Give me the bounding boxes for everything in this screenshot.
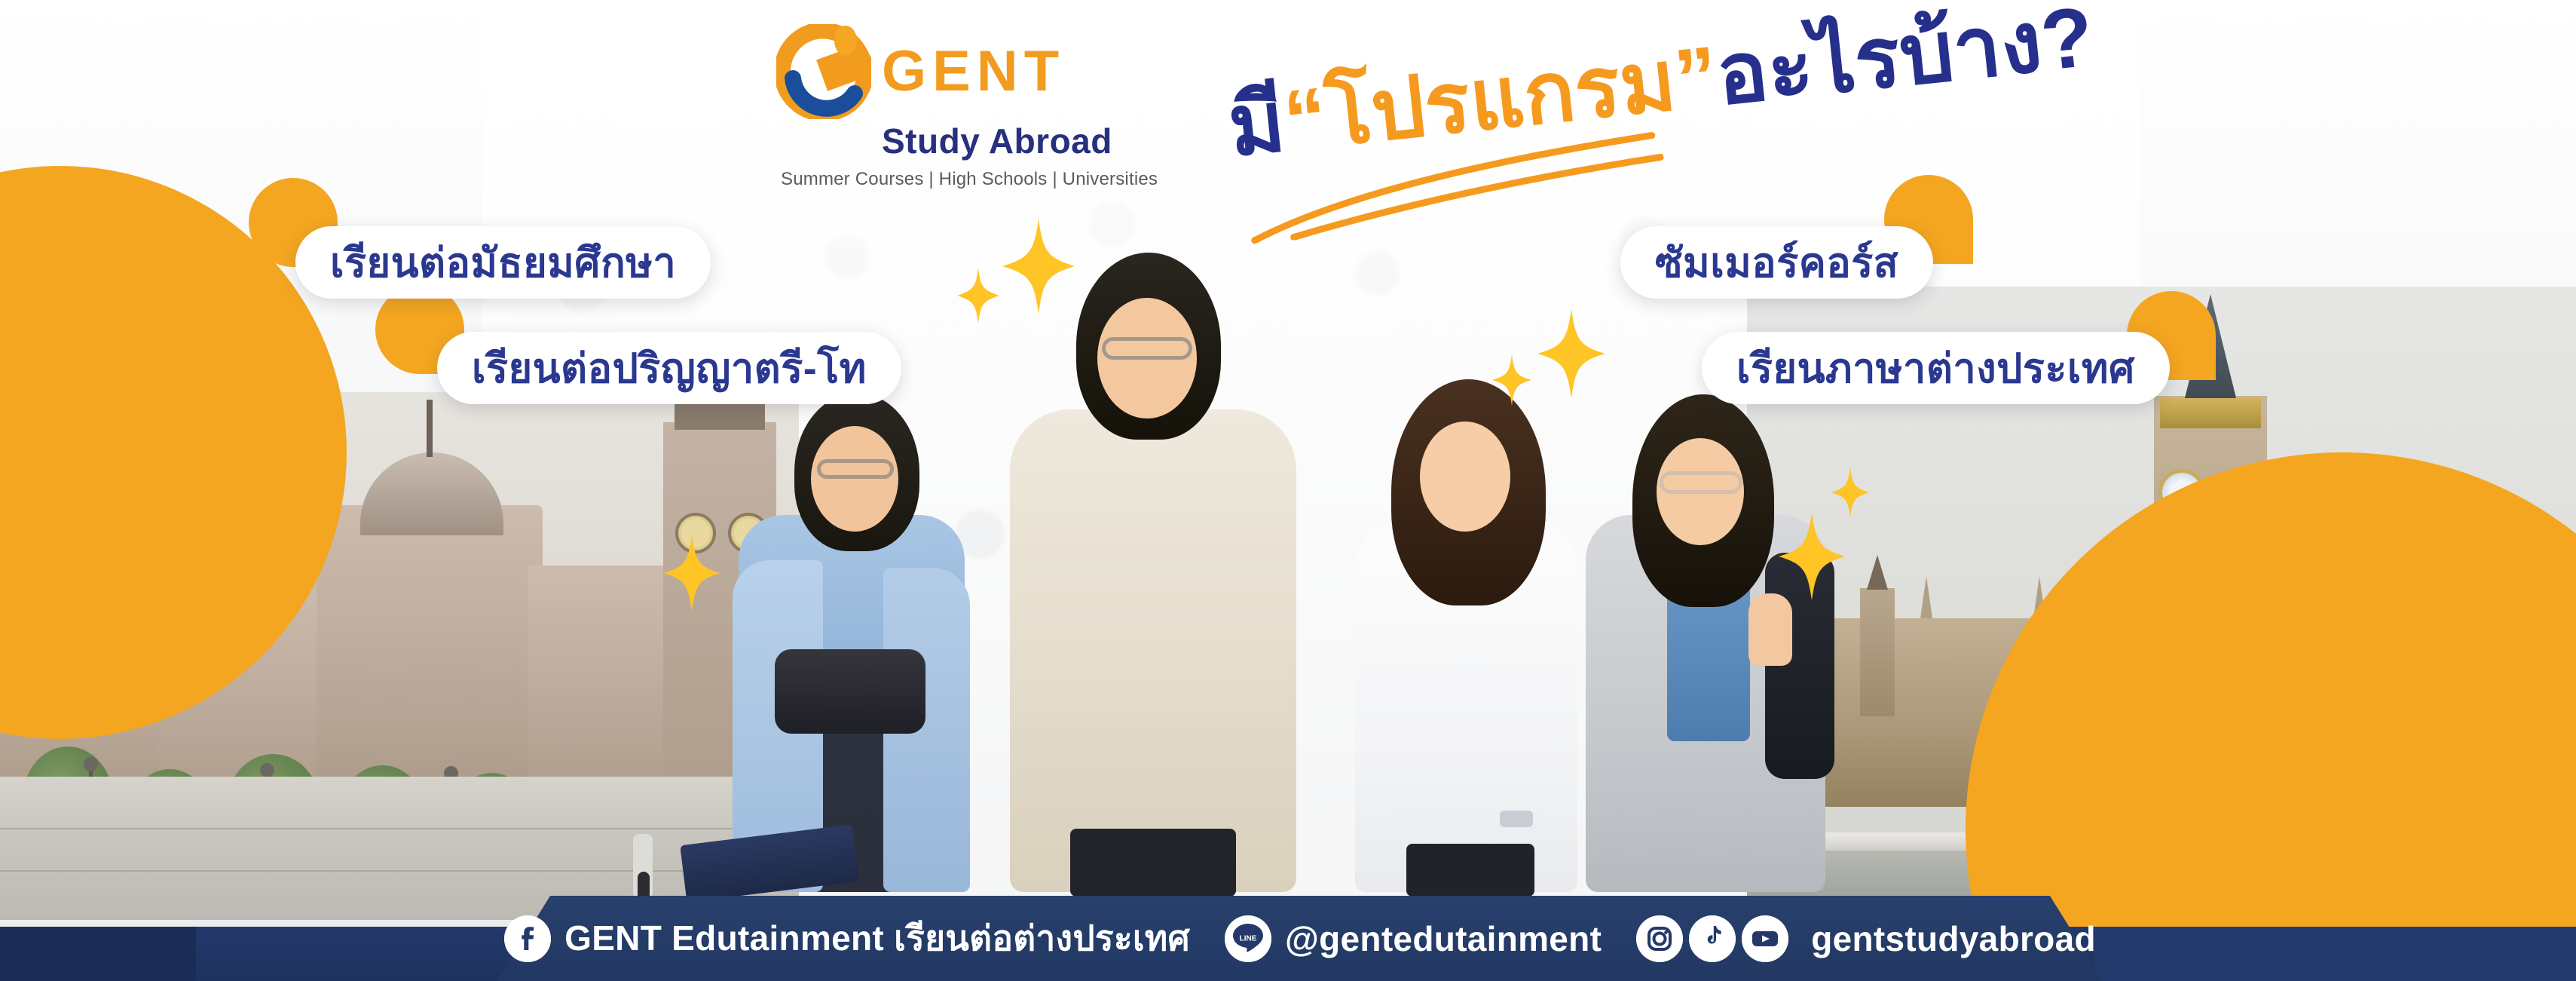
student-3-watch [1500,811,1533,827]
bottom-navy-strip-left [0,927,196,981]
sparkle-icon-6 [1831,468,1869,517]
bottom-navy-strip-right [2094,927,2576,981]
student-1-face [811,426,898,532]
logo-row: GENT [776,24,1228,119]
sparkle-icon-1 [1002,219,1075,314]
svg-text:LINE: LINE [1240,934,1257,943]
student-3 [1342,319,1590,892]
pill-high-school-label: เรียนต่อมัธยมศึกษา [330,230,676,295]
student-4-glasses [1660,471,1742,494]
left-plaza-line-2 [0,870,799,872]
student-2-glasses [1102,337,1192,360]
social-handles-icons: gentstudyabroad [1636,915,2096,962]
logo-word: GENT [882,44,1065,99]
social-bar: GENT Edutainment เรียนต่อต่างประเทศ LINE… [497,896,2103,981]
student-2-pants [1070,829,1236,897]
instagram-icon[interactable] [1636,915,1683,962]
facebook-icon[interactable] [504,915,551,962]
student-2 [995,228,1311,892]
pill-summer-course-label: ซัมเมอร์คอร์ส [1655,230,1898,295]
youtube-icon[interactable] [1742,915,1788,962]
student-4-peace-hand [1748,593,1792,666]
sparkle-icon-7 [663,535,720,611]
gent-g-icon [776,24,871,119]
pill-language-course-label: เรียนภาษาต่างประเทศ [1736,336,2135,400]
student-2-sweater [1010,409,1296,892]
big-ben-gold-band [2160,398,2261,428]
pill-bachelor-master[interactable]: เรียนต่อปริญญาตรี-โท [437,332,901,404]
student-1-bag [775,649,925,734]
handles-label: gentstudyabroad [1811,918,2096,959]
left-plaza-line-1 [0,828,799,829]
headline-part-3: อะไรบ้าง? [1712,0,2097,122]
social-facebook[interactable]: GENT Edutainment เรียนต่อต่างประเทศ [504,911,1190,966]
sparkle-icon-2 [957,268,999,323]
facebook-label: GENT Edutainment เรียนต่อต่างประเทศ [564,911,1190,966]
logo-wordmark: GENT [882,44,1065,99]
line-label: @gentedutainment [1285,918,1602,959]
brand-logo: GENT Study Abroad Summer Courses | High … [776,24,1228,190]
tiktok-icon[interactable] [1689,915,1736,962]
line-icon[interactable]: LINE [1225,915,1271,962]
right-turret [1860,588,1895,716]
headline: มี“โปรแกรม”อะไรบ้าง? [1228,15,2020,189]
logo-subtitle: Study Abroad [882,121,1228,161]
social-line[interactable]: LINE @gentedutainment [1225,915,1602,962]
sparkle-icon-3 [1537,309,1605,398]
pill-language-course[interactable]: เรียนภาษาต่างประเทศ [1702,332,2170,404]
headline-part-1: มี [1224,74,1289,173]
student-3-face [1420,422,1510,532]
student-4 [1575,334,1839,892]
student-1-glasses [817,459,894,479]
logo-tagline: Summer Courses | High Schools | Universi… [781,169,1228,190]
left-spire [427,400,433,457]
sparkle-icon-5 [1779,513,1845,600]
student-3-pants [1406,844,1534,897]
pill-high-school[interactable]: เรียนต่อมัธยมศึกษา [295,226,711,299]
student-1 [716,364,987,892]
pill-bachelor-master-label: เรียนต่อปริญญาตรี-โท [472,336,867,400]
promo-banner: GENT Study Abroad Summer Courses | High … [0,0,2576,981]
pill-summer-course[interactable]: ซัมเมอร์คอร์ส [1620,226,1933,299]
sparkle-icon-4 [1492,354,1531,406]
